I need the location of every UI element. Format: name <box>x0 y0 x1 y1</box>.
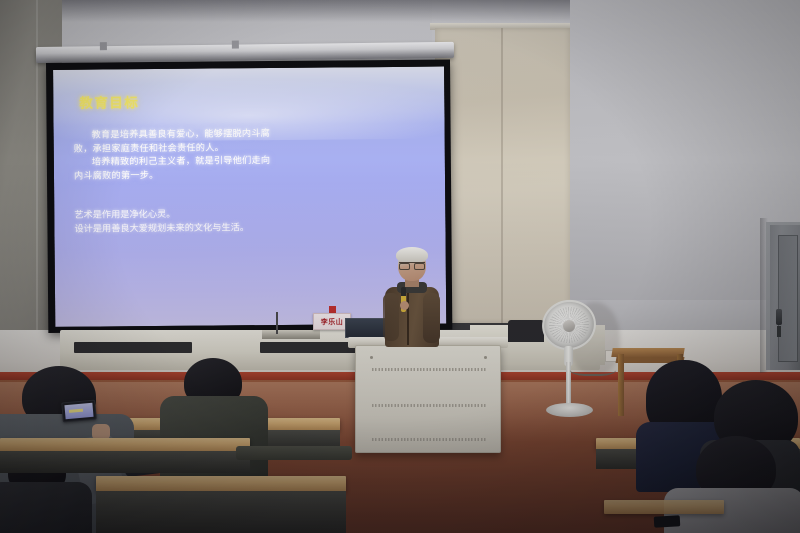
slide-paragraph-1: 教育是培养具善良有爱心，能够摆脱内斗腐 败，承担家庭责任和社会责任的人。 培养精… <box>74 126 427 183</box>
presenter-hand <box>400 301 409 310</box>
slide-line: 教育是培养具善良有爱心，能够摆脱内斗腐 <box>74 126 427 143</box>
slide-line: 内斗腐败的第一步。 <box>74 170 159 182</box>
fan-base <box>546 403 593 417</box>
presenter-chair <box>508 320 544 342</box>
slide-line: 设计是用善良大爱规划未来的文化与生活。 <box>74 220 427 237</box>
door-handle-icon[interactable] <box>776 309 782 325</box>
presenter <box>379 249 445 347</box>
nameplate-text: 李乐山 <box>321 317 344 327</box>
smartphone-on-desk[interactable] <box>654 515 681 527</box>
roller-bracket <box>100 42 107 50</box>
lectern-vent <box>372 438 486 441</box>
lectern-vent <box>372 368 486 371</box>
lectern-screw <box>370 356 373 359</box>
pedestal-fan <box>540 300 598 418</box>
audience-coat <box>0 482 92 533</box>
roller-bracket <box>232 41 239 49</box>
presenter-arm-left <box>383 293 399 341</box>
lectern <box>355 345 501 453</box>
presenter-arm-right <box>423 293 440 343</box>
lectern-vent <box>372 404 486 407</box>
smartphone-screen <box>64 403 93 419</box>
presenter-hair <box>396 247 428 263</box>
wooden-table-leg <box>618 354 624 416</box>
slide-line: 败，承担家庭责任和社会责任的人。 <box>74 142 224 154</box>
audience-desk-row-right-near <box>604 500 724 514</box>
audience-right-front <box>664 436 800 533</box>
slide-line: 培养精致的利己主义者，就是引导他们走向 <box>74 153 427 170</box>
audience-desk-row-foreground <box>96 476 346 492</box>
lecture-hall-photo: 教育目标 教育是培养具善良有爱心，能够摆脱内斗腐 败，承担家庭责任和社会责任的人… <box>0 0 800 533</box>
jacket-zipper <box>407 293 409 345</box>
audience-desk-front-near <box>0 451 250 473</box>
smartphone-recording[interactable] <box>61 400 97 423</box>
slide-paragraph-2: 艺术是作用是净化心灵。 设计是用善良大爱规划未来的文化与生活。 <box>74 206 427 237</box>
glasses-icon <box>399 262 425 267</box>
power-cable <box>570 362 616 376</box>
desk-recess <box>74 342 192 353</box>
audience-seat-bar-mid <box>236 446 352 460</box>
door-panel <box>778 235 798 362</box>
audience-desk-front-foreground <box>96 491 346 533</box>
door[interactable] <box>766 222 800 370</box>
slide-title: 教育目标 <box>79 89 426 112</box>
nameplate-flag-icon <box>329 306 336 313</box>
microphone-stand <box>276 312 278 334</box>
desk-equipment <box>262 330 320 339</box>
audience-desk-row-near <box>0 438 250 452</box>
beige-wall-panel <box>435 28 572 323</box>
fan-hub <box>563 320 575 332</box>
lectern-screw <box>484 356 487 359</box>
